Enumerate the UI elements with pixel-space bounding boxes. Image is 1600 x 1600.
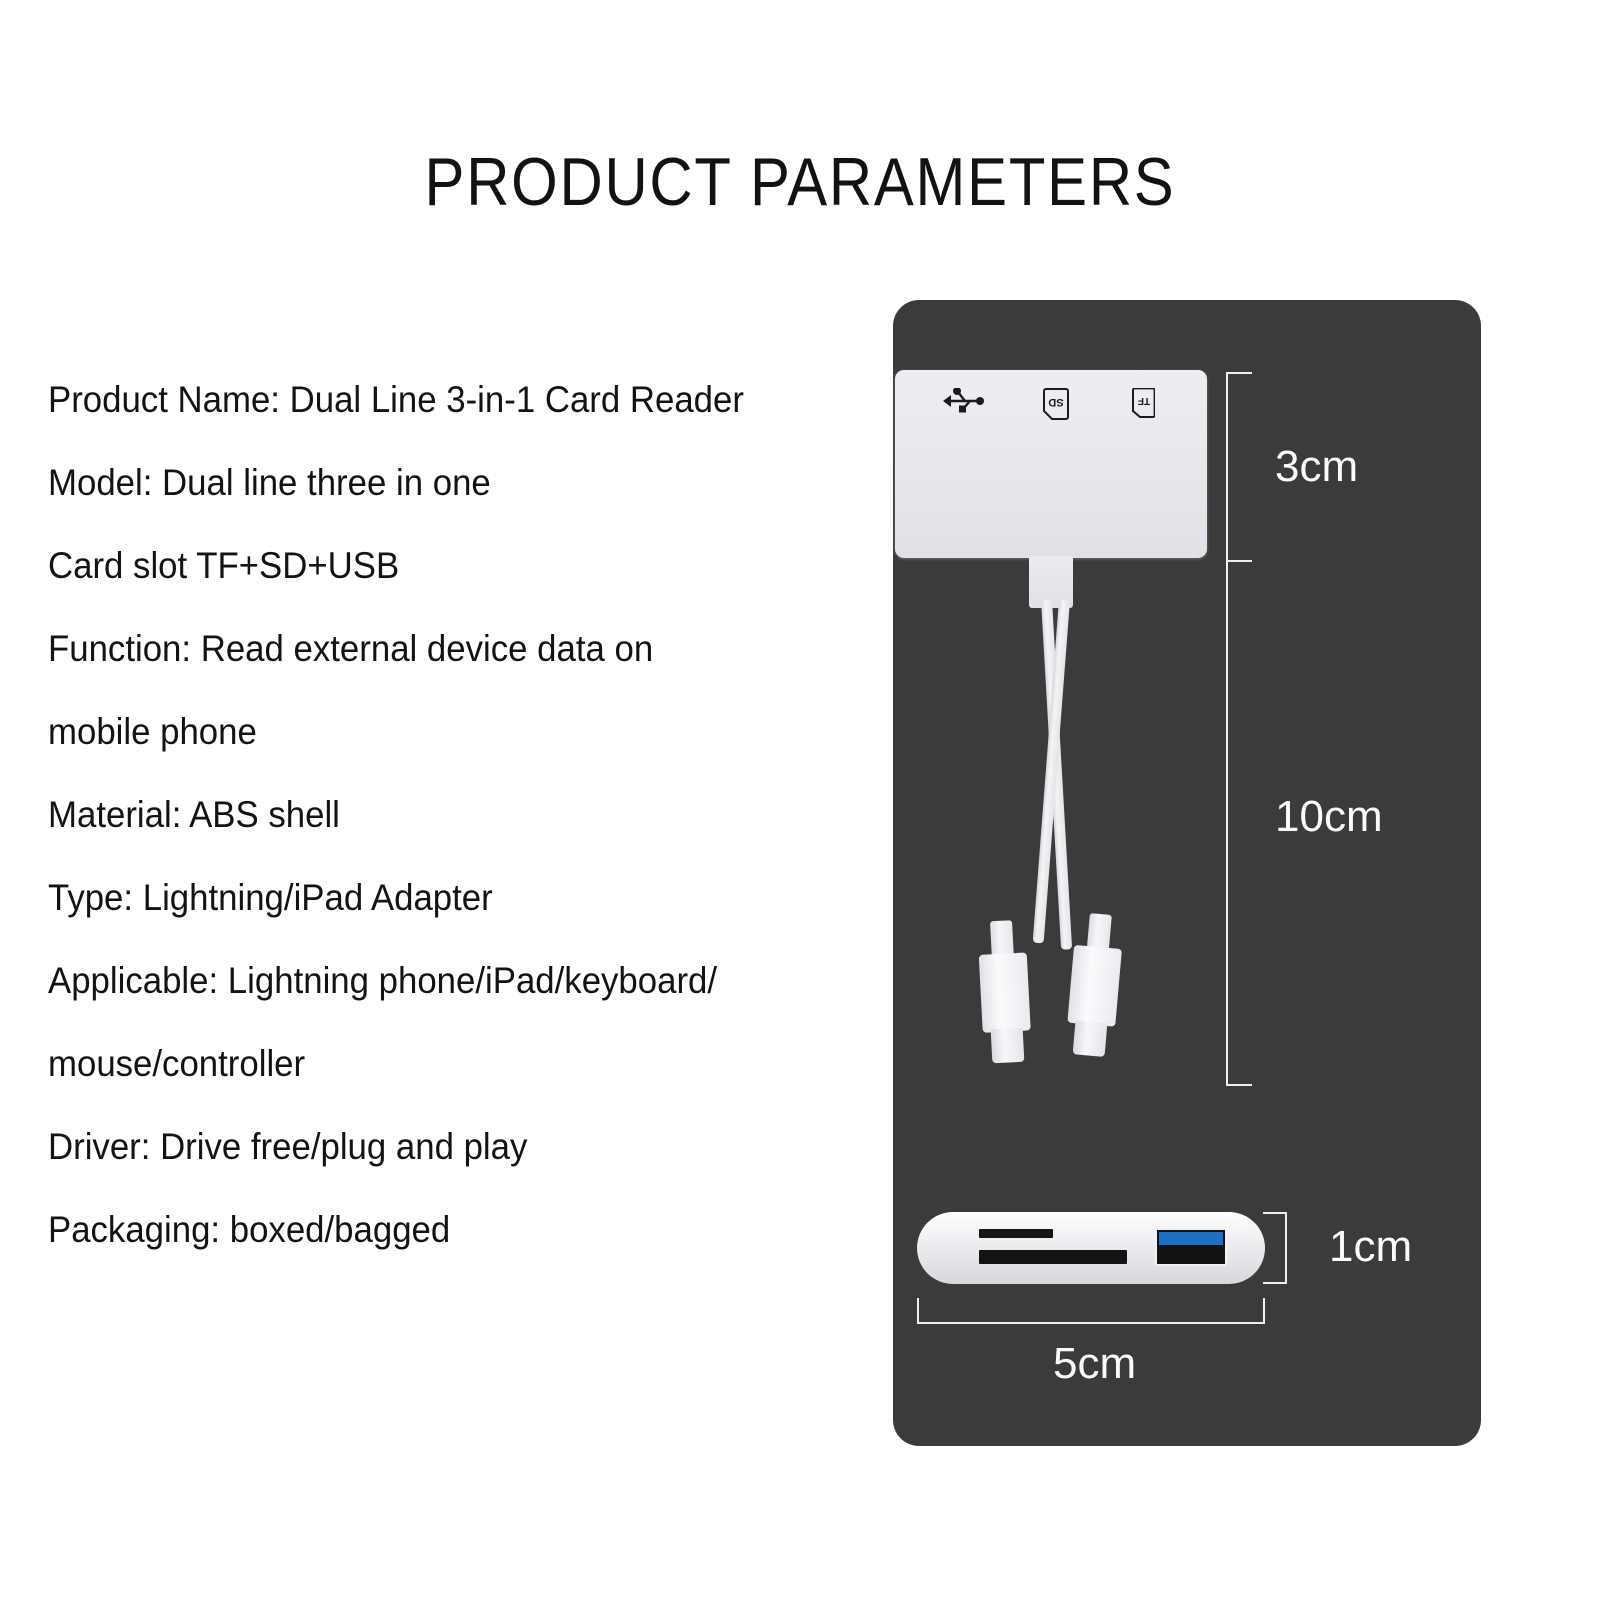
tf-card-icon: TF [1131,388,1155,418]
connector-neck-right [1087,913,1112,951]
dimension-tick-reader-left [917,1298,919,1322]
dimension-label-cable-length: 10cm [1275,795,1383,839]
page-title: PRODUCT PARAMETERS [96,142,1504,222]
sd-card-icon: SD [1043,388,1069,420]
spec-line-function: Function: Read external device data on [48,607,828,690]
usb-port-blue-insert [1159,1232,1223,1245]
dimension-line-reader-width [917,1322,1265,1324]
connector-tip-right [1073,1020,1108,1057]
spec-line-function-cont: mobile phone [48,690,828,773]
usb-port [1155,1228,1227,1266]
sd-card-slot [979,1250,1127,1264]
dimension-tick-hub-bottom [1226,560,1252,562]
dimension-line-reader-thickness [1285,1212,1287,1284]
tf-card-slot [979,1229,1053,1238]
spec-line-applicable-cont: mouse/controller [48,1022,828,1105]
spec-line-type: Type: Lightning/iPad Adapter [48,856,828,939]
spec-line-product-name: Product Name: Dual Line 3-in-1 Card Read… [48,358,828,441]
dimension-tick-reader-right [1263,1298,1265,1322]
spec-line-material: Material: ABS shell [48,773,828,856]
spec-line-applicable: Applicable: Lightning phone/iPad/keyboar… [48,939,828,1022]
svg-text:TF: TF [1138,395,1150,406]
connector-body-right [1067,945,1122,1027]
spec-line-model: Model: Dual line three in one [48,441,828,524]
connector-body-left [979,952,1031,1032]
dimension-line-cable-length [1226,372,1228,1086]
product-image-panel: SD TF 3cm 10cm [893,300,1481,1446]
card-reader-hub-body: SD TF [895,370,1207,558]
dimension-tick-reader-top [1263,1212,1287,1214]
usb-icon [943,388,985,414]
spec-line-card-slot: Card slot TF+SD+USB [48,524,828,607]
card-reader-edge-view [917,1212,1265,1284]
dimension-tick-cable-bottom [1226,1084,1252,1086]
svg-text:SD: SD [1048,396,1063,408]
dimension-tick-reader-bottom [1263,1282,1287,1284]
connector-neck-left [990,920,1014,957]
spec-line-packaging: Packaging: boxed/bagged [48,1188,828,1271]
connector-tip-left [991,1028,1025,1064]
dimension-tick-hub-top [1226,372,1252,374]
dimension-label-hub-height: 3cm [1275,445,1358,489]
product-spec-list: Product Name: Dual Line 3-in-1 Card Read… [48,358,878,1271]
dimension-label-reader-width: 5cm [1053,1342,1136,1386]
dimension-label-reader-thickness: 1cm [1329,1225,1412,1269]
spec-line-driver: Driver: Drive free/plug and play [48,1105,828,1188]
